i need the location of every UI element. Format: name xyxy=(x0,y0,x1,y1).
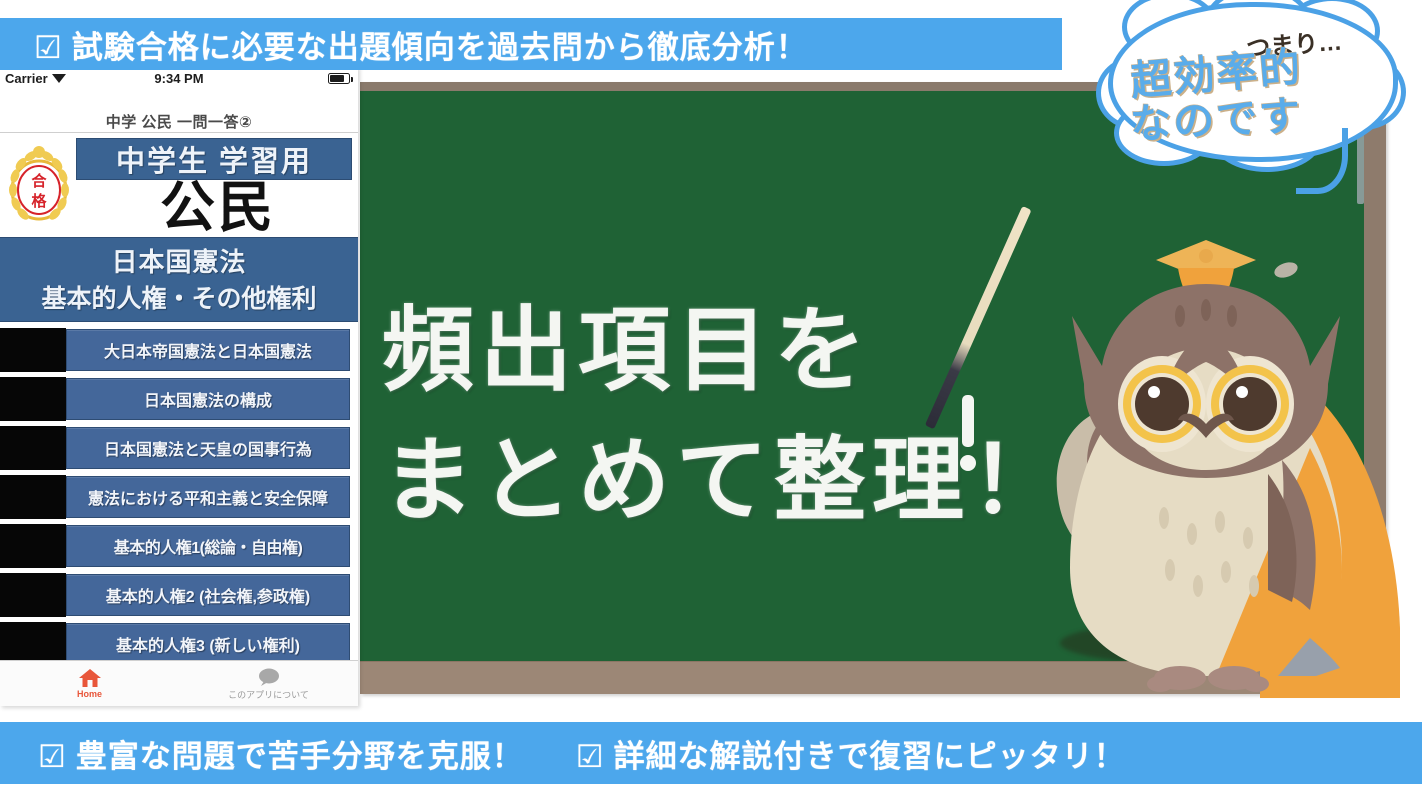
tab-home[interactable]: Home xyxy=(0,661,179,706)
list-item[interactable]: 大日本帝国憲法と日本国憲法 xyxy=(0,328,358,372)
owl-eye-right xyxy=(1211,365,1289,443)
list-item-label: 基本的人権3 (新しい権利) xyxy=(116,632,300,656)
list-item[interactable]: 日本国憲法の構成 xyxy=(0,377,358,421)
list-item-label: 憲法における平和主義と安全保障 xyxy=(88,485,328,509)
list-item-chip[interactable]: 大日本帝国憲法と日本国憲法 xyxy=(66,329,350,371)
list-item-label: 基本的人権1(総論・自由権) xyxy=(114,534,303,558)
audience-badge: 中学生 学習用 xyxy=(76,138,352,180)
list-item-chip[interactable]: 憲法における平和主義と安全保障 xyxy=(66,476,350,518)
list-item-chip[interactable]: 基本的人権2 (社会権,参政権) xyxy=(66,574,350,616)
clock-label: 9:34 PM xyxy=(0,71,358,86)
bottom-banner-text-1: 豊富な問題で苦手分野を克服！ xyxy=(76,739,524,774)
subject-title-label: 公民 xyxy=(160,180,276,235)
speech-bubble-tail xyxy=(1296,128,1348,194)
list-item-chip[interactable]: 基本的人権1(総論・自由権) xyxy=(66,525,350,567)
chalk-dust-mark xyxy=(1272,260,1299,281)
pass-seal-icon: 合 格 xyxy=(0,133,78,237)
svg-text:合: 合 xyxy=(30,172,47,190)
svg-text:格: 格 xyxy=(31,192,47,210)
subject-title: 公民 xyxy=(78,177,358,237)
bottom-banner-item-1: ☑豊富な問題で苦手分野を克服！ xyxy=(0,731,524,776)
list-item-label: 日本国憲法の構成 xyxy=(144,387,272,411)
top-banner-text: 試験合格に必要な出題傾向を過去問から徹底分析！ xyxy=(72,30,808,65)
checkbox-checked-icon: ☑ xyxy=(38,739,67,775)
list-item-label: 基本的人権2 (社会権,参政権) xyxy=(106,583,310,607)
chalk-text-line1: 頻出項目を xyxy=(382,276,872,409)
list-item[interactable]: 憲法における平和主義と安全保障 xyxy=(0,475,358,519)
exclamation-mark-icon xyxy=(955,395,981,477)
bottom-promo-banner: ☑豊富な問題で苦手分野を克服！ ☑詳細な解説付きで復習にピッタリ！ xyxy=(0,722,1422,784)
audience-badge-label: 中学生 学習用 xyxy=(116,138,312,180)
list-item-marker xyxy=(0,328,66,372)
list-item-chip[interactable]: 基本的人権3 (新しい権利) xyxy=(66,623,350,660)
page-title: 中学 公民 一問一答② xyxy=(0,111,358,132)
list-item-marker xyxy=(0,573,66,617)
top-promo-banner: ☑試験合格に必要な出題傾向を過去問から徹底分析！ xyxy=(0,18,1062,70)
bottom-banner-item-2: ☑詳細な解説付きで復習にピッタリ！ xyxy=(524,731,1126,776)
topic-list: 大日本帝国憲法と日本国憲法 日本国憲法の構成 日本国憲法と天皇の国事行為 憲法に… xyxy=(0,322,358,660)
hero-right: 中学生 学習用 公民 xyxy=(78,133,358,237)
list-item-marker xyxy=(0,475,66,519)
phone-mockup: Carrier 9:34 PM 中学 公民 一問一答② xyxy=(0,66,358,706)
tab-home-label: Home xyxy=(77,689,102,699)
section-header-line2: 基本的人権・その他権利 xyxy=(0,279,358,315)
bottom-banner-text-2: 詳細な解説付きで復習にピッタリ！ xyxy=(614,739,1126,774)
app-content: 合 格 中学生 学習用 公民 日本国憲法 基本的人権・その他権利 大日 xyxy=(0,132,358,660)
battery-icon xyxy=(328,73,350,84)
list-item-marker xyxy=(0,524,66,568)
list-item[interactable]: 基本的人権1(総論・自由権) xyxy=(0,524,358,568)
list-item-marker xyxy=(0,426,66,470)
speech-bubble: つまり… 超効率的 なのです xyxy=(1108,2,1398,190)
list-item[interactable]: 基本的人権2 (社会権,参政権) xyxy=(0,573,358,617)
list-item-chip[interactable]: 日本国憲法と天皇の国事行為 xyxy=(66,427,350,469)
list-item[interactable]: 日本国憲法と天皇の国事行為 xyxy=(0,426,358,470)
tab-about-label: このアプリについて xyxy=(228,688,309,701)
list-item-label: 大日本帝国憲法と日本国憲法 xyxy=(104,338,312,362)
section-header: 日本国憲法 基本的人権・その他権利 xyxy=(0,237,358,322)
home-icon xyxy=(78,668,102,688)
list-item-label: 日本国憲法と天皇の国事行為 xyxy=(104,436,312,460)
list-item[interactable]: 基本的人権3 (新しい権利) xyxy=(0,622,358,660)
top-banner-text-row: ☑試験合格に必要な出題傾向を過去問から徹底分析！ xyxy=(0,22,808,67)
owl-teacher-mascot xyxy=(1010,198,1400,698)
list-item-marker xyxy=(0,622,66,660)
owl-eye-left xyxy=(1123,365,1201,443)
hero-row: 合 格 中学生 学習用 公民 xyxy=(0,133,358,237)
section-header-line1: 日本国憲法 xyxy=(0,242,358,279)
list-item-chip[interactable]: 日本国憲法の構成 xyxy=(66,378,350,420)
checkbox-checked-icon: ☑ xyxy=(576,739,605,775)
tab-bar: Home このアプリについて xyxy=(0,660,358,706)
bubble-line2: なのです xyxy=(1129,82,1304,151)
checkbox-checked-icon: ☑ xyxy=(34,30,63,66)
tab-about[interactable]: このアプリについて xyxy=(179,661,358,706)
list-item-marker xyxy=(0,377,66,421)
speech-bubble-icon xyxy=(257,667,281,687)
